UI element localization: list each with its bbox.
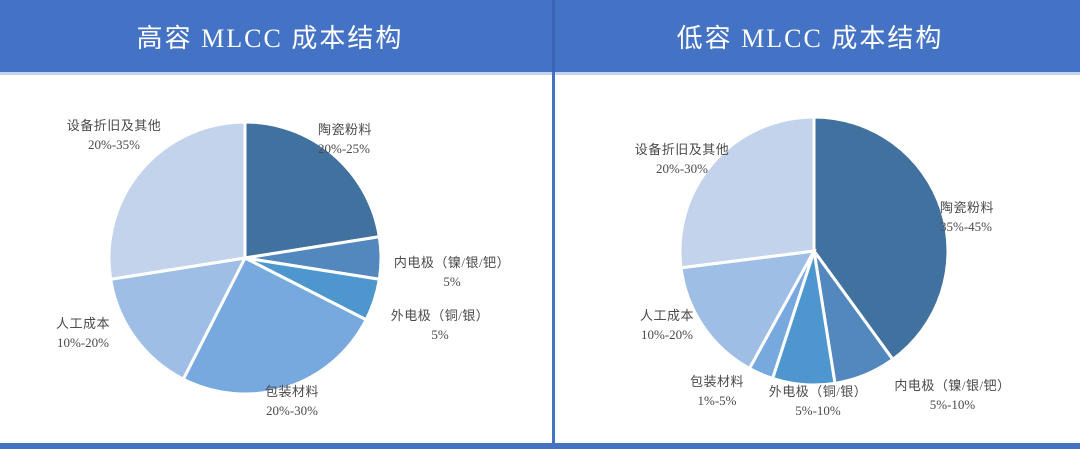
bottom-border xyxy=(0,443,1080,449)
label-equipment-depreciation-value: 20%-35% xyxy=(24,136,204,155)
label-packaging-material-name: 包装材料 xyxy=(212,383,372,402)
label-inner-electrode-name: 内电极（镍/银/钯） xyxy=(362,254,542,273)
pie-chart-high-capacity xyxy=(107,120,383,396)
panel-high-capacity-mlcc: 高容 MLCC 成本结构 设备折旧及其他 20%-35% 陶瓷粉料 20%-25… xyxy=(0,0,540,449)
pie-slice-equipment-depreciation-b[interactable] xyxy=(680,117,814,268)
label-labor-cost-right-name: 人工成本 xyxy=(602,307,732,326)
label-equipment-depreciation-right: 设备折旧及其他 20%-30% xyxy=(592,141,772,179)
label-ceramic-powder-name: 陶瓷粉料 xyxy=(318,121,478,140)
label-packaging-material: 包装材料 20%-30% xyxy=(212,383,372,421)
label-equipment-depreciation-right-value: 20%-30% xyxy=(592,160,772,179)
label-inner-electrode-right: 内电极（镍/银/钯） 5%-10% xyxy=(860,377,1045,415)
label-outer-electrode: 外电极（铜/银） 5% xyxy=(360,307,520,345)
label-inner-electrode-right-value: 5%-10% xyxy=(860,396,1045,415)
infographic-board: 高容 MLCC 成本结构 设备折旧及其他 20%-35% 陶瓷粉料 20%-25… xyxy=(0,0,1080,449)
panel-right-chart-area: 设备折旧及其他 20%-30% 陶瓷粉料 35%-45% 人工成本 10%-20… xyxy=(540,75,1080,449)
label-outer-electrode-value: 5% xyxy=(360,326,520,345)
panel-divider-header xyxy=(552,0,555,72)
pie-chart-high-capacity-svg xyxy=(107,120,383,396)
label-inner-electrode: 内电极（镍/银/钯） 5% xyxy=(362,254,542,292)
label-outer-electrode-name: 外电极（铜/银） xyxy=(360,307,520,326)
label-ceramic-powder-right-value: 35%-45% xyxy=(940,218,1080,237)
label-labor-cost-right-value: 10%-20% xyxy=(602,326,732,345)
label-inner-electrode-value: 5% xyxy=(362,273,542,292)
label-equipment-depreciation: 设备折旧及其他 20%-35% xyxy=(24,117,204,155)
label-equipment-depreciation-name: 设备折旧及其他 xyxy=(24,117,204,136)
panel-left-title-bar: 高容 MLCC 成本结构 xyxy=(0,0,540,72)
label-ceramic-powder: 陶瓷粉料 20%-25% xyxy=(318,121,478,159)
label-packaging-material-value: 20%-30% xyxy=(212,402,372,421)
panel-right-title: 低容 MLCC 成本结构 xyxy=(677,18,944,55)
panel-left-chart-area: 设备折旧及其他 20%-35% 陶瓷粉料 20%-25% 内电极（镍/银/钯） … xyxy=(0,75,540,449)
label-ceramic-powder-right: 陶瓷粉料 35%-45% xyxy=(940,199,1080,237)
label-labor-cost-value: 10%-20% xyxy=(18,334,148,353)
panel-left-title: 高容 MLCC 成本结构 xyxy=(137,18,404,55)
panel-right-title-bar: 低容 MLCC 成本结构 xyxy=(540,0,1080,72)
label-ceramic-powder-value: 20%-25% xyxy=(318,140,478,159)
panel-low-capacity-mlcc: 低容 MLCC 成本结构 设备折旧及其他 20%-30% 陶瓷粉料 35%-45… xyxy=(540,0,1080,449)
label-labor-cost-right: 人工成本 10%-20% xyxy=(602,307,732,345)
label-labor-cost-name: 人工成本 xyxy=(18,315,148,334)
label-labor-cost: 人工成本 10%-20% xyxy=(18,315,148,353)
label-inner-electrode-right-name: 内电极（镍/银/钯） xyxy=(860,377,1045,396)
label-equipment-depreciation-right-name: 设备折旧及其他 xyxy=(592,141,772,160)
label-ceramic-powder-right-name: 陶瓷粉料 xyxy=(940,199,1080,218)
